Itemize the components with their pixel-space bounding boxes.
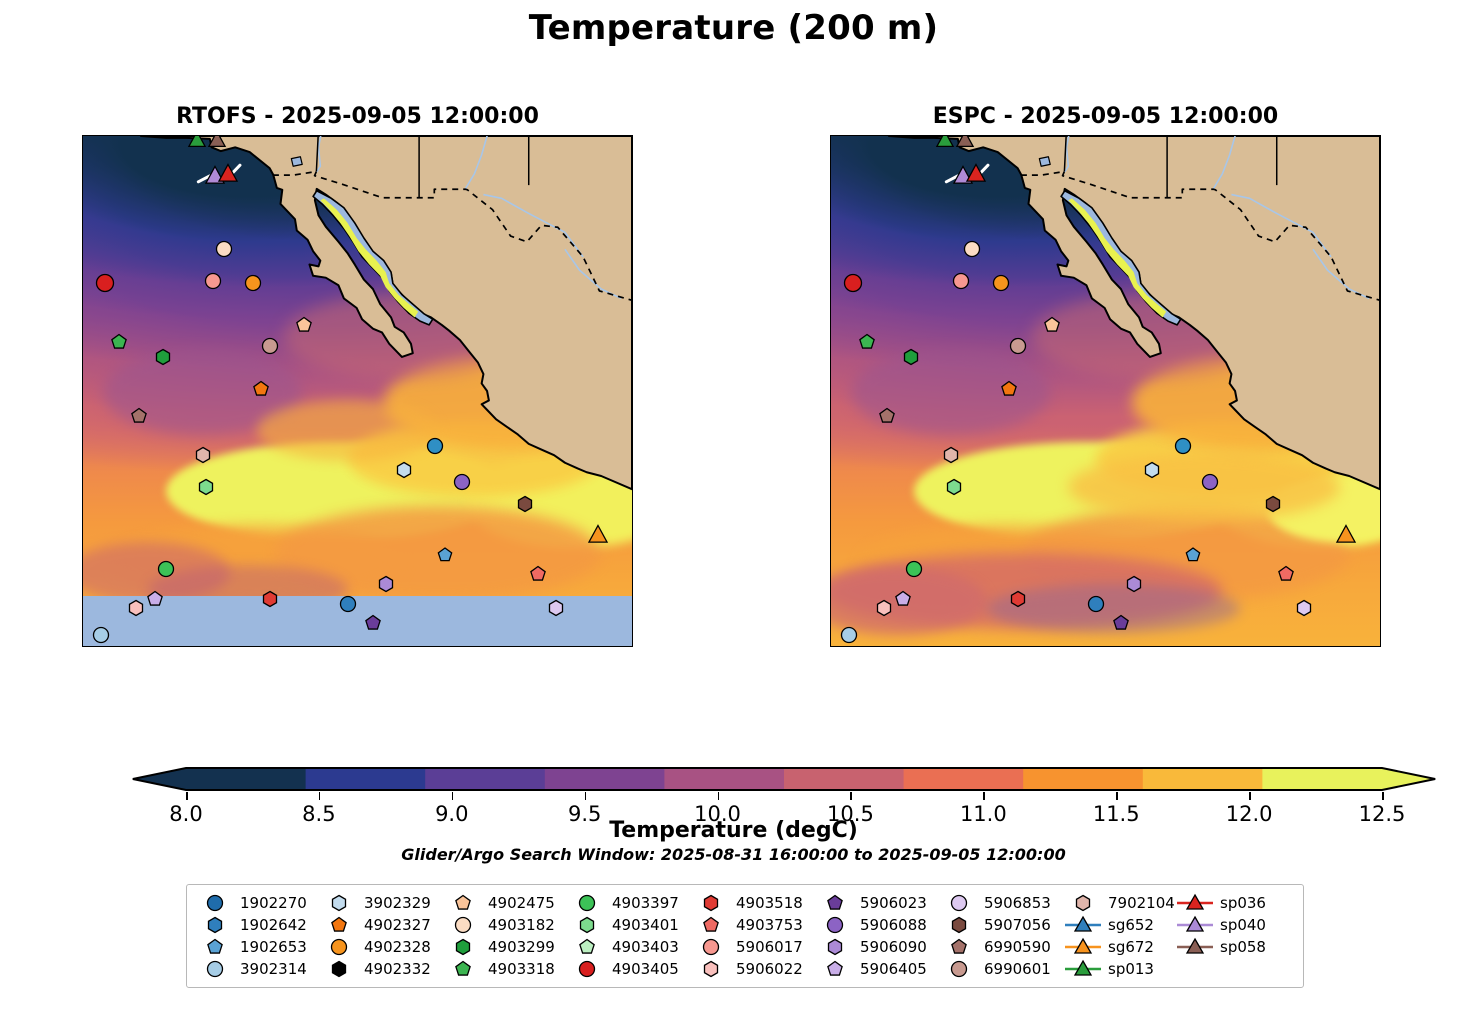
observation-marker-4903753[interactable]	[529, 565, 547, 583]
observation-marker-sp058[interactable]	[207, 135, 227, 150]
observation-marker-6990601[interactable]	[261, 337, 279, 355]
lat-minor-tick	[1380, 138, 1381, 140]
legend-item-4903518[interactable]: 4903518	[691, 892, 815, 913]
lat-minor-tick	[82, 591, 83, 593]
observation-marker-sp013[interactable]	[935, 135, 955, 150]
legend-item-5906017[interactable]: 5906017	[691, 936, 815, 957]
colorbar-tick	[1249, 792, 1251, 800]
page-title: Temperature (200 m)	[0, 8, 1467, 48]
legend-column: 5906023590608859060905906405	[815, 892, 939, 979]
observation-marker-4903397[interactable]	[157, 560, 175, 578]
observation-marker-1902642[interactable]	[1087, 595, 1105, 613]
lon-minor-tick	[248, 646, 250, 647]
observation-marker-4902328[interactable]	[992, 274, 1010, 292]
lat-tick	[1380, 563, 1381, 565]
legend-marker-triangle-line-icon	[1063, 915, 1103, 935]
lon-tick-top	[1240, 135, 1242, 136]
legend-item-4902332[interactable]: 4902332	[319, 958, 443, 979]
lon-minor-tick	[357, 646, 359, 647]
lat-minor-tick	[1380, 251, 1381, 253]
legend-item-1902270[interactable]: 1902270	[195, 892, 319, 913]
observation-marker-1902642[interactable]	[339, 595, 357, 613]
lon-tick	[275, 646, 277, 647]
lat-minor-tick	[82, 138, 83, 140]
lat-minor-tick	[1380, 478, 1381, 480]
legend-label: 4903318	[483, 960, 555, 978]
legend-marker-hexagon-icon	[567, 915, 607, 935]
legend-marker-hexagon-icon	[691, 959, 731, 979]
legend-label: 4902475	[483, 894, 555, 912]
search-window-caption: Glider/Argo Search Window: 2025-08-31 16…	[0, 845, 1467, 864]
lon-minor-tick	[1105, 646, 1107, 647]
lon-tick-top	[969, 135, 971, 136]
legend-item-4903318[interactable]: 4903318	[443, 958, 567, 979]
lon-minor-tick	[194, 646, 196, 647]
lon-minor-tick	[1159, 646, 1161, 647]
observation-marker-1902653[interactable]	[437, 547, 454, 564]
lat-tick	[1380, 223, 1381, 225]
legend-item-4902327[interactable]: 4902327	[319, 914, 443, 935]
lon-tick-top	[1077, 135, 1079, 136]
lat-minor-tick	[1380, 365, 1381, 367]
map-panel-espc: ESPC - 2025-09-05 12:00:00 9°N12°N15°N18…	[830, 135, 1381, 647]
lon-tick	[221, 646, 223, 647]
legend-marker-hexagon-icon	[939, 915, 979, 935]
lon-minor-tick	[465, 646, 467, 647]
lat-minor-tick	[82, 251, 83, 253]
legend-marker-pentagon-icon	[691, 915, 731, 935]
lon-tick	[860, 646, 862, 647]
lat-minor-tick	[82, 308, 83, 310]
colorbar-tick	[585, 792, 587, 800]
observation-marker-5906088[interactable]	[1201, 473, 1219, 491]
lat-tick	[82, 223, 83, 225]
legend-column: 3902329490232749023284902332	[319, 892, 443, 979]
observation-marker-sg672[interactable]	[1335, 524, 1357, 546]
colorbar-tick	[186, 792, 188, 800]
lon-minor-tick	[942, 646, 944, 647]
lon-minor-tick	[887, 646, 889, 647]
observation-marker-6990601[interactable]	[1009, 337, 1027, 355]
lat-minor-tick	[1380, 591, 1381, 593]
legend-label: 4903182	[483, 916, 555, 934]
lon-tick-top	[1349, 135, 1351, 136]
observation-marker-1902270[interactable]	[426, 437, 444, 455]
legend-marker-hexagon-icon	[691, 893, 731, 913]
legend-item-3902314[interactable]: 3902314	[195, 958, 319, 979]
legend: 1902270190264219026533902314390232949023…	[186, 884, 1304, 988]
lat-minor-tick	[82, 535, 83, 537]
legend-label: 5906023	[855, 894, 927, 912]
legend-marker-circle-icon	[567, 893, 607, 913]
observation-marker-4903518[interactable]	[261, 590, 279, 608]
observation-marker-6990590[interactable]	[878, 407, 896, 425]
lon-minor-tick	[1376, 646, 1378, 647]
legend-label: sp013	[1103, 960, 1154, 978]
legend-marker-hexagon-icon	[1063, 893, 1103, 913]
lon-tick	[1349, 646, 1351, 647]
legend-grid: 1902270190264219026533902314390232949023…	[195, 892, 1295, 979]
legend-item-5906022[interactable]: 5906022	[691, 958, 815, 979]
lon-minor-tick	[1322, 646, 1324, 647]
observation-marker-5906017[interactable]	[204, 272, 222, 290]
lon-tick-top	[1023, 135, 1025, 136]
lon-minor-tick	[574, 646, 576, 647]
lat-tick	[82, 563, 83, 565]
observation-marker-4903182[interactable]	[963, 240, 981, 258]
observation-marker-sp036[interactable]	[965, 163, 987, 185]
lat-minor-tick	[1380, 421, 1381, 423]
legend-marker-circle-icon	[939, 959, 979, 979]
lon-tick-top	[112, 135, 114, 136]
lon-tick	[1023, 646, 1025, 647]
legend-label: sp058	[1215, 938, 1266, 956]
observation-marker-4903405[interactable]	[843, 273, 863, 293]
lon-minor-tick	[1268, 646, 1270, 647]
observation-marker-7902104[interactable]	[942, 446, 960, 464]
legend-item-5906853[interactable]: 5906853	[939, 892, 1063, 913]
legend-marker-circle-icon	[567, 959, 607, 979]
legend-item-3902329[interactable]: 3902329	[319, 892, 443, 913]
colorbar-tick	[718, 792, 720, 800]
lon-minor-tick	[1105, 646, 1107, 647]
observation-marker-5906090[interactable]	[377, 575, 395, 593]
lon-minor-tick	[465, 646, 467, 647]
lat-tick	[1380, 450, 1381, 452]
observation-marker-5906853[interactable]	[1295, 599, 1313, 617]
legend-label: 4903401	[607, 916, 679, 934]
lat-minor-tick	[1380, 195, 1381, 197]
lon-tick	[1132, 646, 1134, 647]
lat-tick	[82, 166, 83, 168]
legend-column: 7902104sg652sg672sp013	[1063, 892, 1175, 979]
legend-label: 5906022	[731, 960, 803, 978]
lat-tick	[1380, 280, 1381, 282]
lon-minor-tick	[139, 646, 141, 647]
lat-tick	[1380, 166, 1381, 168]
observation-marker-5907056[interactable]	[516, 495, 534, 513]
observation-marker-4902328[interactable]	[244, 274, 262, 292]
observation-marker-5906853[interactable]	[547, 599, 565, 617]
lat-minor-tick	[82, 195, 83, 197]
lat-minor-tick	[1380, 195, 1381, 197]
legend-label: 4903397	[607, 894, 679, 912]
lon-minor-tick	[1213, 646, 1215, 647]
lat-tick	[82, 280, 83, 282]
observation-marker-4903318[interactable]	[858, 333, 876, 351]
legend-item-4902475[interactable]: 4902475	[443, 892, 567, 913]
observation-marker-4902475[interactable]	[295, 316, 313, 334]
lon-tick	[547, 646, 549, 647]
legend-marker-triangle-line-icon	[1175, 937, 1215, 957]
colorbar-tick	[319, 792, 321, 800]
lon-tick-top	[166, 135, 168, 136]
lon-minor-tick	[357, 646, 359, 647]
lon-tick	[329, 646, 331, 647]
lat-tick	[82, 393, 83, 395]
observation-marker-4903299[interactable]	[154, 348, 172, 366]
legend-label: 6990590	[979, 938, 1051, 956]
lat-minor-tick	[1380, 478, 1381, 480]
legend-item-1902642[interactable]: 1902642	[195, 914, 319, 935]
observation-marker-sp036[interactable]	[217, 163, 239, 185]
legend-label: 1902270	[235, 894, 307, 912]
lon-tick-top	[1132, 135, 1134, 136]
observation-marker-4903401[interactable]	[197, 478, 215, 496]
legend-label: 5906853	[979, 894, 1051, 912]
lon-tick-top	[438, 135, 440, 136]
observation-marker-5906405[interactable]	[894, 590, 912, 608]
legend-item-sg672[interactable]: sg672	[1063, 936, 1175, 957]
lon-minor-tick	[996, 646, 998, 647]
lon-tick-top	[1186, 135, 1188, 136]
lon-tick	[1077, 646, 1079, 647]
legend-label: sg652	[1103, 916, 1154, 934]
legend-item-6990601[interactable]: 6990601	[939, 958, 1063, 979]
lat-minor-tick	[1380, 421, 1381, 423]
observation-marker-5906022[interactable]	[127, 599, 145, 617]
legend-marker-pentagon-icon	[195, 937, 235, 957]
colorbar-tick	[1116, 792, 1118, 800]
observation-marker-4903401[interactable]	[945, 478, 963, 496]
legend-column: 4903397490340149034034903405	[567, 892, 691, 979]
observation-marker-sg672[interactable]	[587, 524, 609, 546]
observation-marker-6990590[interactable]	[130, 407, 148, 425]
lat-minor-tick	[1380, 251, 1381, 253]
map-rtofs[interactable]: 9°N12°N15°N18°N21°N24°N27°N30°N33°N126°W…	[82, 135, 633, 647]
lon-minor-tick	[942, 646, 944, 647]
legend-item-sp036[interactable]: sp036	[1175, 892, 1283, 913]
observation-marker-4903518[interactable]	[1009, 590, 1027, 608]
legend-item-5906090[interactable]: 5906090	[815, 936, 939, 957]
legend-marker-circle-icon	[195, 959, 235, 979]
legend-item-4903182[interactable]: 4903182	[443, 914, 567, 935]
lon-minor-tick	[520, 646, 522, 647]
lat-tick	[82, 336, 83, 338]
lon-tick-top	[547, 135, 549, 136]
legend-marker-pentagon-icon	[815, 959, 855, 979]
observation-marker-sp058[interactable]	[955, 135, 975, 150]
observation-marker-5906017[interactable]	[952, 272, 970, 290]
lon-minor-tick	[411, 646, 413, 647]
legend-marker-pentagon-icon	[443, 959, 483, 979]
observation-marker-5906022[interactable]	[875, 599, 893, 617]
colorbar: 8.08.59.09.510.010.511.011.512.012.5	[0, 760, 1467, 800]
lon-tick-top	[329, 135, 331, 136]
lon-minor-tick	[302, 646, 304, 647]
observation-marker-3902314[interactable]	[92, 626, 110, 644]
legend-marker-triangle-line-icon	[1175, 915, 1215, 935]
observation-marker-4902475[interactable]	[1043, 316, 1061, 334]
legend-item-sg652[interactable]: sg652	[1063, 914, 1175, 935]
observation-marker-7902104[interactable]	[194, 446, 212, 464]
legend-item-4903299[interactable]: 4903299	[443, 936, 567, 957]
legend-marker-triangle-line-icon	[1175, 893, 1215, 913]
lat-minor-tick	[1380, 365, 1381, 367]
legend-item-4903401[interactable]: 4903401	[567, 914, 691, 935]
observation-marker-5906023[interactable]	[1112, 614, 1130, 632]
lon-minor-tick	[1268, 646, 1270, 647]
legend-item-4902328[interactable]: 4902328	[319, 936, 443, 957]
observation-marker-5906405[interactable]	[146, 590, 164, 608]
legend-label: 4902332	[359, 960, 431, 978]
legend-marker-triangle-line-icon	[1063, 959, 1103, 979]
legend-item-4903405[interactable]: 4903405	[567, 958, 691, 979]
colorbar-tick	[850, 792, 852, 800]
lon-minor-tick	[574, 646, 576, 647]
map-espc[interactable]: 9°N12°N15°N18°N21°N24°N27°N30°N33°N126°W…	[830, 135, 1381, 647]
lon-minor-tick	[628, 646, 630, 647]
lon-minor-tick	[887, 646, 889, 647]
lon-minor-tick	[302, 646, 304, 647]
observation-marker-sp013[interactable]	[187, 135, 207, 150]
lat-minor-tick	[82, 421, 83, 423]
legend-marker-hexagon-icon	[319, 959, 359, 979]
legend-marker-pentagon-icon	[815, 893, 855, 913]
legend-item-5906088[interactable]: 5906088	[815, 914, 939, 935]
observation-marker-3902329[interactable]	[395, 461, 413, 479]
map-panel-rtofs: RTOFS - 2025-09-05 12:00:00 9°N12°N15°N1…	[82, 135, 633, 647]
legend-marker-circle-icon	[443, 915, 483, 935]
observation-marker-4903397[interactable]	[905, 560, 923, 578]
observation-marker-5907056[interactable]	[1264, 495, 1282, 513]
lat-tick	[1380, 620, 1381, 622]
legend-label: 5906088	[855, 916, 927, 934]
legend-item-sp040[interactable]: sp040	[1175, 914, 1283, 935]
legend-item-6990590[interactable]: 6990590	[939, 936, 1063, 957]
lat-minor-tick	[82, 365, 83, 367]
legend-item-4903753[interactable]: 4903753	[691, 914, 815, 935]
lon-tick-top	[384, 135, 386, 136]
legend-label: sp040	[1215, 916, 1266, 934]
observation-marker-3902314[interactable]	[840, 626, 858, 644]
colorbar-label: Temperature (degC)	[0, 818, 1467, 843]
lat-minor-tick	[1380, 535, 1381, 537]
lat-minor-tick	[1380, 308, 1381, 310]
observation-marker-4903299[interactable]	[902, 348, 920, 366]
observation-marker-4903405[interactable]	[95, 273, 115, 293]
observation-marker-4903182[interactable]	[215, 240, 233, 258]
legend-marker-circle-icon	[939, 893, 979, 913]
lat-tick	[1380, 393, 1381, 395]
legend-label: 4903403	[607, 938, 679, 956]
lon-minor-tick	[1213, 646, 1215, 647]
lon-minor-tick	[833, 646, 835, 647]
lon-tick	[438, 646, 440, 647]
legend-marker-circle-icon	[319, 937, 359, 957]
legend-marker-pentagon-icon	[443, 893, 483, 913]
lon-tick-top	[914, 135, 916, 136]
lat-tick	[82, 620, 83, 622]
lon-tick	[112, 646, 114, 647]
legend-marker-pentagon-icon	[319, 915, 359, 935]
legend-marker-hexagon-icon	[319, 893, 359, 913]
legend-label: 3902314	[235, 960, 307, 978]
lon-tick	[601, 646, 603, 647]
observation-marker-1902653[interactable]	[1185, 547, 1202, 564]
lon-minor-tick	[996, 646, 998, 647]
observation-marker-4903318[interactable]	[110, 333, 128, 351]
legend-marker-hexagon-icon	[815, 937, 855, 957]
observation-marker-4902327[interactable]	[252, 380, 270, 398]
observation-marker-3902329[interactable]	[1143, 461, 1161, 479]
legend-item-4903403[interactable]: 4903403	[567, 936, 691, 957]
lon-tick	[384, 646, 386, 647]
lat-tick	[1380, 506, 1381, 508]
legend-label: sp036	[1215, 894, 1266, 912]
legend-item-4903397[interactable]: 4903397	[567, 892, 691, 913]
legend-marker-circle-icon	[195, 893, 235, 913]
lon-minor-tick	[520, 646, 522, 647]
legend-label: 4902327	[359, 916, 431, 934]
lon-minor-tick	[85, 646, 87, 647]
legend-item-sp013[interactable]: sp013	[1063, 958, 1175, 979]
lat-tick	[82, 506, 83, 508]
observation-marker-5906023[interactable]	[364, 614, 382, 632]
lon-minor-tick	[194, 646, 196, 647]
lat-minor-tick	[82, 478, 83, 480]
panel-title-rtofs: RTOFS - 2025-09-05 12:00:00	[82, 104, 633, 135]
legend-label: 4902328	[359, 938, 431, 956]
lat-minor-tick	[1380, 535, 1381, 537]
legend-label: 5907056	[979, 916, 1051, 934]
lon-tick-top	[1295, 135, 1297, 136]
observation-marker-4902327[interactable]	[1000, 380, 1018, 398]
lon-tick	[969, 646, 971, 647]
legend-column: 5906853590705669905906990601	[939, 892, 1063, 979]
lon-tick-top	[221, 135, 223, 136]
legend-item-5906405[interactable]: 5906405	[815, 958, 939, 979]
legend-label: 6990601	[979, 960, 1051, 978]
legend-marker-pentagon-icon	[567, 937, 607, 957]
lon-tick	[492, 646, 494, 647]
observation-marker-5906088[interactable]	[453, 473, 471, 491]
lon-tick	[166, 646, 168, 647]
legend-item-7902104[interactable]: 7902104	[1063, 892, 1175, 913]
legend-label: 4903299	[483, 938, 555, 956]
lon-tick	[1240, 646, 1242, 647]
colorbar-tick	[1382, 792, 1384, 800]
legend-item-5906023[interactable]: 5906023	[815, 892, 939, 913]
colorbar-tick	[983, 792, 985, 800]
legend-item-1902653[interactable]: 1902653	[195, 936, 319, 957]
lat-tick	[1380, 336, 1381, 338]
lat-minor-tick	[1380, 308, 1381, 310]
lon-minor-tick	[411, 646, 413, 647]
colorbar-tick	[452, 792, 454, 800]
legend-item-5907056[interactable]: 5907056	[939, 914, 1063, 935]
lon-tick	[1295, 646, 1297, 647]
legend-marker-circle-icon	[691, 937, 731, 957]
observation-marker-5906090[interactable]	[1125, 575, 1143, 593]
lon-minor-tick	[1322, 646, 1324, 647]
observation-marker-1902270[interactable]	[1174, 437, 1192, 455]
legend-column: 4903518490375359060175906022	[691, 892, 815, 979]
lat-minor-tick	[1380, 591, 1381, 593]
lon-minor-tick	[139, 646, 141, 647]
legend-column: sp036sp040sp058	[1175, 892, 1283, 979]
legend-marker-circle-icon	[815, 915, 855, 935]
lat-tick	[82, 450, 83, 452]
legend-label: 5906090	[855, 938, 927, 956]
legend-column: 1902270190264219026533902314	[195, 892, 319, 979]
legend-marker-hexagon-icon	[195, 915, 235, 935]
lon-minor-tick	[1050, 646, 1052, 647]
legend-label: 7902104	[1103, 894, 1175, 912]
legend-item-sp058[interactable]: sp058	[1175, 936, 1283, 957]
observation-marker-4903753[interactable]	[1277, 565, 1295, 583]
legend-label: sg672	[1103, 938, 1154, 956]
